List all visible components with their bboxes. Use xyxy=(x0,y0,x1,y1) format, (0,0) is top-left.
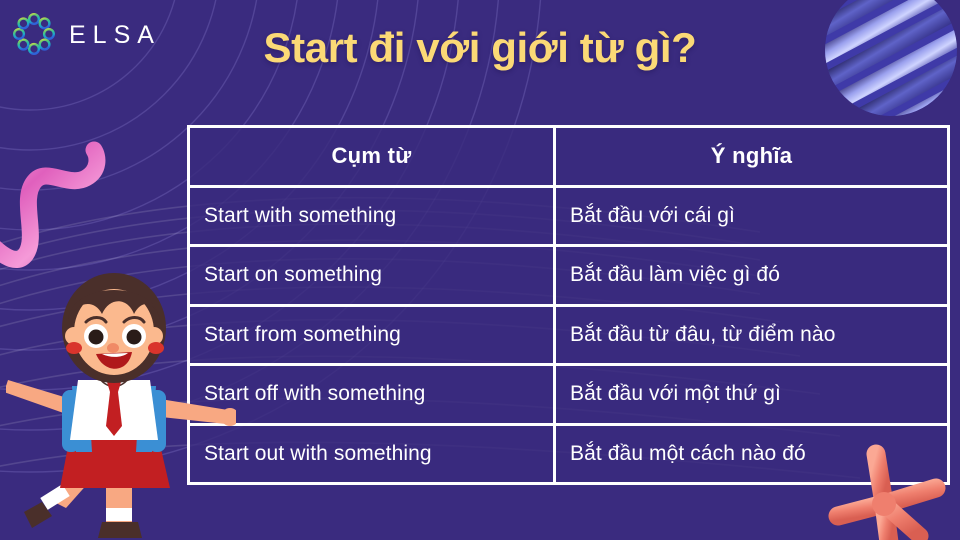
table-cell-phrase: Start on something xyxy=(190,247,556,304)
table-row: Start off with something Bắt đầu với một… xyxy=(190,363,947,423)
table-cell-meaning: Bắt đầu với cái gì xyxy=(556,188,947,245)
table-row: Start with something Bắt đầu với cái gì xyxy=(190,185,947,245)
table-header-row: Cụm từ Ý nghĩa xyxy=(190,128,947,185)
table-row: Start from something Bắt đầu từ đâu, từ … xyxy=(190,304,947,364)
page-title: Start đi với giới từ gì? xyxy=(0,24,960,72)
slide-canvas: ELSA Start đi với giới từ gì? xyxy=(0,0,960,540)
table-cell-meaning: Bắt đầu một cách nào đó xyxy=(556,426,947,483)
pink-zigzag-ribbon-icon xyxy=(0,104,142,284)
table-cell-phrase: Start from something xyxy=(190,307,556,364)
table-cell-meaning: Bắt đầu với một thứ gì xyxy=(556,366,947,423)
table-cell-meaning: Bắt đầu làm việc gì đó xyxy=(556,247,947,304)
table-cell-phrase: Start with something xyxy=(190,188,556,245)
table-cell-meaning: Bắt đầu từ đâu, từ điểm nào xyxy=(556,307,947,364)
table-cell-phrase: Start out with something xyxy=(190,426,556,483)
table-cell-phrase: Start off with something xyxy=(190,366,556,423)
table-header-meaning: Ý nghĩa xyxy=(556,128,947,185)
table-row: Start out with something Bắt đầu một các… xyxy=(190,423,947,483)
table-header-phrase: Cụm từ xyxy=(190,128,556,185)
phrases-table: Cụm từ Ý nghĩa Start with something Bắt … xyxy=(187,125,950,485)
table-row: Start on something Bắt đầu làm việc gì đ… xyxy=(190,244,947,304)
